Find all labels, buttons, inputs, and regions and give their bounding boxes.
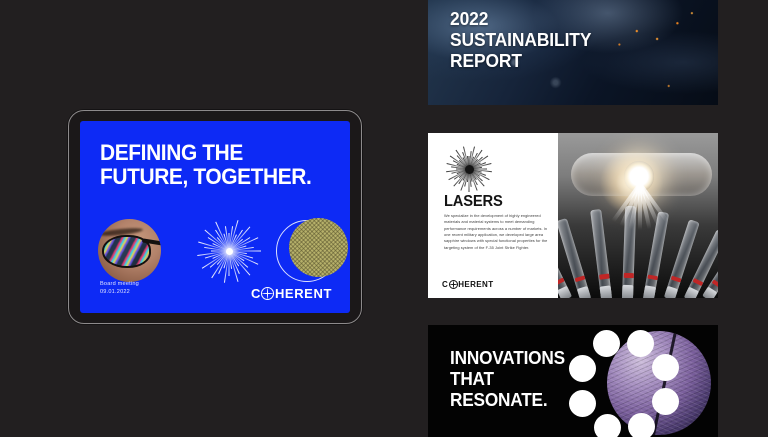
ring-dot: [569, 390, 596, 417]
rod-base: [622, 285, 634, 298]
laser-tubes-photo: [558, 133, 718, 298]
ring-dot: [593, 330, 620, 357]
coherent-wordmark: C HERENT: [251, 287, 332, 300]
ring-dot: [652, 388, 679, 415]
ring-dot: [627, 330, 654, 357]
overlapping-circles-graphic: [276, 218, 348, 284]
ring-dot: [569, 355, 596, 382]
slide-lasers[interactable]: LASERS We specialize in the development …: [428, 133, 718, 298]
tablet-slide-graphics: [98, 217, 348, 285]
logo-prefix: C: [251, 287, 261, 300]
meeting-label: Board meeting: [100, 280, 139, 289]
tablet-slide-meta: Board meeting 09.01.2022: [100, 280, 139, 297]
tablet-screen[interactable]: DEFINING THE FUTURE, TOGETHER. Board mee…: [80, 121, 350, 313]
logo-suffix: HERENT: [458, 281, 493, 289]
logo-suffix: HERENT: [275, 287, 332, 300]
rod-base: [577, 285, 592, 298]
rod-base: [684, 286, 699, 298]
ring-dot: [652, 354, 679, 381]
tablet-device[interactable]: DEFINING THE FUTURE, TOGETHER. Board mee…: [68, 110, 362, 324]
rod-base: [663, 286, 678, 298]
coherent-wordmark: C HERENT: [442, 280, 493, 289]
coherent-logo: C HERENT: [251, 287, 332, 300]
slide-sustainability-report[interactable]: 2022 SUSTAINABILITY REPORT: [428, 0, 718, 105]
dot-ring-graphic: [568, 329, 680, 437]
slide-innovations[interactable]: INNOVATIONS THAT RESONATE.: [428, 325, 718, 437]
sustainability-title: 2022 SUSTAINABILITY REPORT: [450, 9, 591, 72]
tablet-slide-title: DEFINING THE FUTURE, TOGETHER.: [100, 141, 324, 189]
starburst-core: [465, 165, 474, 174]
globe-icon: [449, 280, 458, 289]
eyeglasses-reflection-photo: [98, 219, 161, 282]
lasers-text-panel: LASERS We specialize in the development …: [428, 133, 558, 298]
radial-starburst-icon: [445, 145, 493, 193]
meeting-date: 09.01.2022: [100, 288, 139, 297]
ring-dot: [628, 413, 655, 437]
rod-base: [600, 285, 613, 298]
rod-base: [643, 285, 656, 298]
mesh-circle: [289, 218, 348, 277]
logo-prefix: C: [442, 281, 448, 289]
coherent-logo: C HERENT: [442, 280, 493, 289]
radial-starburst-graphic: [195, 217, 263, 285]
presentation-showcase: DEFINING THE FUTURE, TOGETHER. Board mee…: [0, 0, 768, 432]
ring-dot: [594, 414, 621, 437]
innovations-title: INNOVATIONS THAT RESONATE.: [450, 347, 565, 410]
rod-base: [702, 287, 717, 298]
laser-rod-shape: [590, 209, 612, 298]
lasers-body-text: We specialize in the development of high…: [444, 213, 552, 251]
starburst-core: [226, 248, 233, 255]
rod-base: [558, 286, 572, 298]
globe-icon: [261, 287, 274, 300]
lasers-heading: LASERS: [444, 193, 503, 211]
